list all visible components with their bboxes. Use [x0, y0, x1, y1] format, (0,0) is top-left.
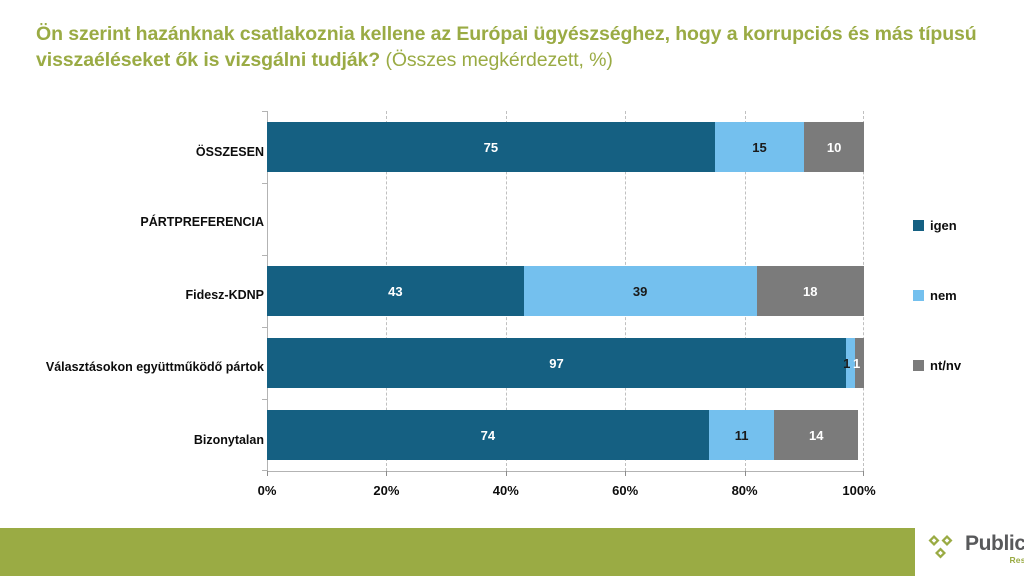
x-axis-label-20: 20% [373, 483, 399, 498]
table-row[interactable]: 74 11 14 [267, 410, 864, 460]
table-row [267, 194, 864, 244]
x-tick-0 [267, 471, 268, 476]
logo-subtitle: Research [965, 556, 1024, 565]
legend-item-igen[interactable]: igen [913, 218, 957, 233]
y-tick-0 [262, 111, 267, 112]
bar-value-igen: 43 [388, 284, 402, 299]
legend-swatch-icon [913, 360, 924, 371]
bar-segment-ntnv[interactable]: 14 [774, 410, 858, 460]
x-axis-label-0: 0% [258, 483, 277, 498]
bar-value-nem: 39 [633, 284, 647, 299]
bar-segment-nem[interactable]: 15 [715, 122, 805, 172]
bar-value-ntnv: 14 [809, 428, 823, 443]
stacked-bar-osszesen: 75 15 10 [267, 122, 864, 172]
stacked-bar-bizonytalan: 74 11 14 [267, 410, 864, 460]
table-row[interactable]: 75 15 10 [267, 122, 864, 172]
bar-value-ntnv: 1 [853, 356, 860, 371]
x-axis-label-80: 80% [732, 483, 758, 498]
x-tick-60 [625, 471, 626, 476]
category-label-osszesen: ÖSSZESEN [196, 146, 264, 159]
stacked-bar-valasztasokon-egyuttmukodo-partok: 97 1 1 [267, 338, 864, 388]
bar-segment-igen[interactable]: 74 [267, 410, 709, 460]
bar-value-igen: 75 [484, 140, 498, 155]
logo-text: Publicus Research [965, 533, 1024, 565]
table-row[interactable]: 97 1 1 [267, 338, 864, 388]
plot-area: 75 15 10 43 39 18 97 1 1 74 [267, 111, 864, 471]
legend-swatch-icon [913, 290, 924, 301]
footer-color-bar [0, 528, 915, 576]
x-tick-40 [506, 471, 507, 476]
y-tick-4 [262, 399, 267, 400]
category-label-fidesz-kdnp: Fidesz-KDNP [186, 289, 264, 302]
bar-value-igen: 97 [549, 356, 563, 371]
x-axis-label-60: 60% [612, 483, 638, 498]
chart-area: ÖSSZESEN PÁRTPREFERENCIA Fidesz-KDNP Vál… [0, 103, 1024, 503]
bar-value-ntnv: 18 [803, 284, 817, 299]
y-tick-2 [262, 255, 267, 256]
bar-value-ntnv: 10 [827, 140, 841, 155]
legend-item-ntnv[interactable]: nt/nv [913, 358, 961, 373]
page-title: Ön szerint hazánknak csatlakoznia kellen… [36, 22, 996, 74]
page-title-sub: (Összes megkérdezett, %) [380, 49, 613, 71]
bar-segment-ntnv[interactable]: 18 [757, 266, 864, 316]
bar-value-nem: 11 [735, 428, 749, 443]
bar-segment-nem[interactable]: 11 [709, 410, 775, 460]
chart-legend: igen nem nt/nv [913, 103, 1024, 503]
y-tick-3 [262, 327, 267, 328]
x-tick-100 [863, 471, 864, 476]
legend-label-ntnv: nt/nv [930, 358, 961, 373]
stacked-bar-fidesz-kdnp: 43 39 18 [267, 266, 864, 316]
legend-item-nem[interactable]: nem [913, 288, 957, 303]
logo-name: Publicus [965, 533, 1024, 554]
bar-value-igen: 74 [481, 428, 495, 443]
bar-segment-ntnv[interactable]: 1 [855, 338, 864, 388]
x-axis-line [267, 471, 864, 472]
bar-segment-igen[interactable]: 75 [267, 122, 715, 172]
x-axis-label-40: 40% [493, 483, 519, 498]
y-tick-1 [262, 183, 267, 184]
bar-value-nem: 1 [843, 356, 850, 371]
bar-segment-igen[interactable]: 43 [267, 266, 524, 316]
legend-swatch-icon [913, 220, 924, 231]
title-block: Ön szerint hazánknak csatlakoznia kellen… [36, 22, 996, 74]
category-label-valasztasokon-egyuttmukodo-partok: Választásokon együttműködő pártok [46, 361, 264, 374]
legend-label-nem: nem [930, 288, 957, 303]
diamond-logo-icon [925, 532, 959, 566]
bar-segment-ntnv[interactable]: 10 [804, 122, 864, 172]
table-row[interactable]: 43 39 18 [267, 266, 864, 316]
legend-label-igen: igen [930, 218, 957, 233]
category-label-partpreferencia: PÁRTPREFERENCIA [140, 216, 264, 229]
x-tick-20 [386, 471, 387, 476]
category-label-bizonytalan: Bizonytalan [194, 434, 264, 447]
x-axis-label-100: 100% [842, 483, 875, 498]
bar-value-nem: 15 [752, 140, 766, 155]
publicus-research-logo: Publicus Research [925, 532, 1024, 566]
bar-segment-nem[interactable]: 39 [524, 266, 757, 316]
bar-segment-igen[interactable]: 97 [267, 338, 846, 388]
x-tick-80 [745, 471, 746, 476]
